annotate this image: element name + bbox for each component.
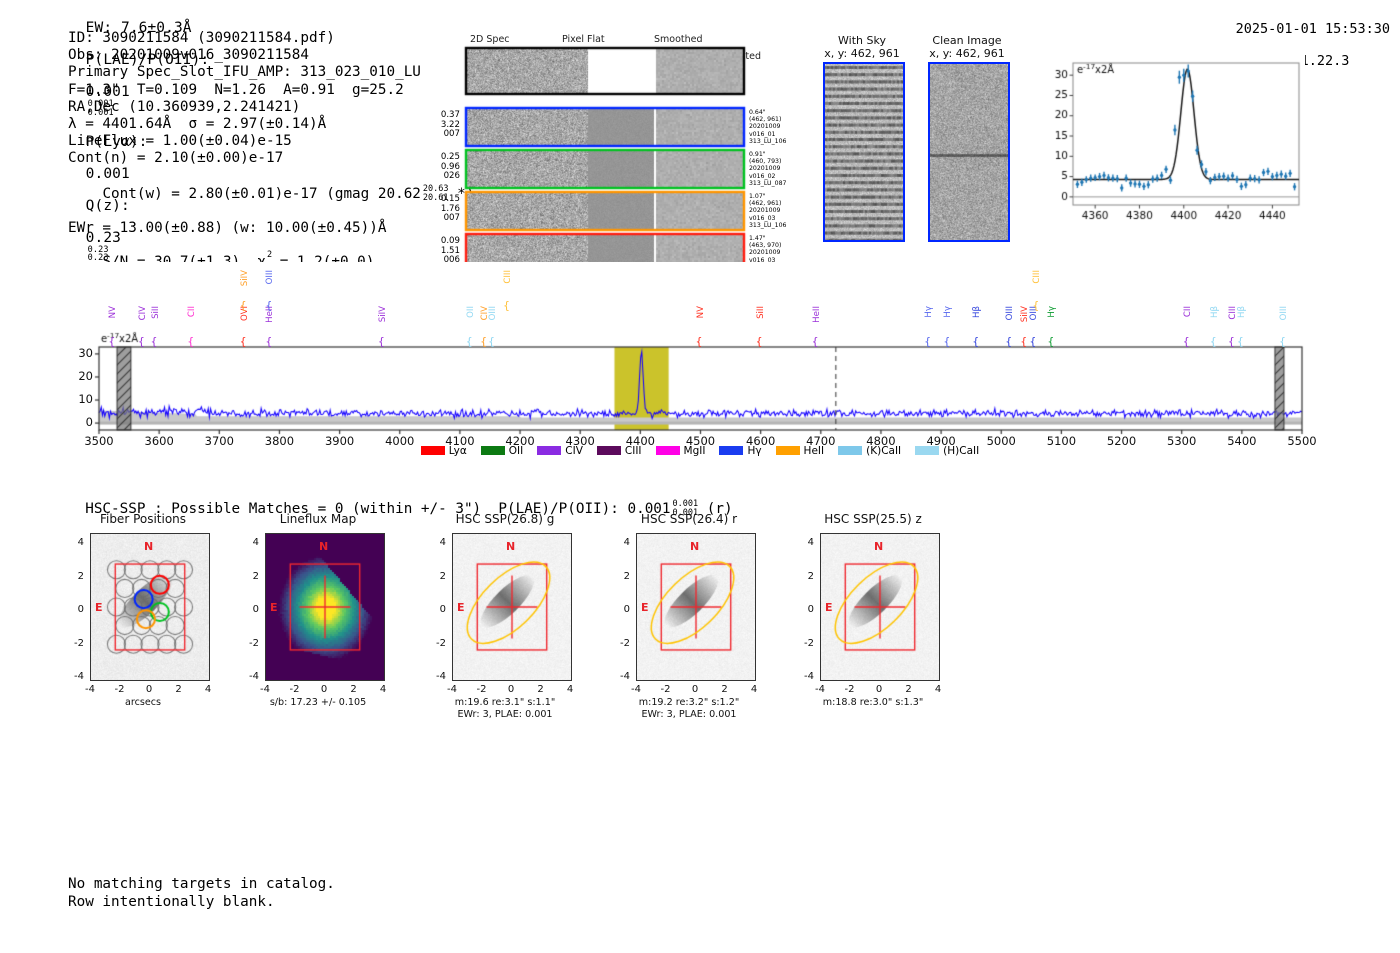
legend-swatch-1 <box>481 446 505 455</box>
legend-swatch-7 <box>838 446 862 455</box>
spec2d-row-2-meta-2: 20201009 <box>749 165 781 172</box>
cutout-panel-1-xtick-0: -4 <box>255 684 275 695</box>
spec2d-row-3-stat-1: 1.76 <box>441 204 460 214</box>
cutout-panel-4-xtick-4: 4 <box>928 684 948 695</box>
cutout-panel-1-ytick-0: 4 <box>243 537 259 548</box>
spec2d-row-2-stat-2: 026 <box>444 171 460 181</box>
cutout-panel-2-ytick-0: 4 <box>430 537 446 548</box>
cutout-panel-1-caption: s/b: 17.23 +/- 0.105 <box>243 697 393 709</box>
spec2d-row-1-meta-3: v016_01 <box>749 131 775 138</box>
legend-label-7: (K)CaII <box>866 445 901 457</box>
spec2d-row-3-meta-0: 1.07" <box>749 193 766 200</box>
spectrum-line-brace-0: { <box>108 336 115 347</box>
spec2d-row-2-meta-1: (460, 793) <box>749 158 781 165</box>
spectrum-line-brace-10: { <box>480 336 487 347</box>
legend-swatch-2 <box>537 446 561 455</box>
spec2d-row-4-meta-0: 1.47" <box>749 235 766 242</box>
spec2d-montage: 2D Spec Pixel Flat Smoothed WeightedSum … <box>432 34 762 264</box>
cutout-panel-0-xtick-0: -4 <box>80 684 100 695</box>
cutout-clean-title: Clean Imagex, y: 462, 961 <box>918 34 1016 60</box>
cutout-panel-0-compass-n: N <box>144 540 153 553</box>
cutout-panel-2-ytick-4: -4 <box>430 671 446 682</box>
spectrum-line-brace-24: { <box>1183 336 1190 347</box>
cutout-panel-2: HSC SSP(26.8) g420-2-4-4-2024m:19.6 re:3… <box>430 533 580 729</box>
spectrum-line-label-SiIV-8: SiIV <box>378 306 388 322</box>
cutout-panel-2-compass-e: E <box>457 601 465 614</box>
spec2d-row-1-stat-1: 3.22 <box>441 120 460 130</box>
cutout-panel-1-ytick-3: -2 <box>243 638 259 649</box>
cutout-panel-4-ytick-4: -4 <box>798 671 814 682</box>
cutout-panel-0-xlabel: arcsecs <box>68 697 218 709</box>
spec2d-row-2-stat-1: 0.96 <box>441 162 460 172</box>
spec2d-row-3-left-stats: 0.151.76007 <box>426 195 460 224</box>
footer-line-2: Row intentionally blank. <box>68 894 335 912</box>
cutout-panel-2-xtick-1: -2 <box>472 684 492 695</box>
spectrum-line-brace-18: { <box>972 336 979 347</box>
cutout-panel-3-xtick-3: 2 <box>715 684 735 695</box>
spectrum-line-label-H-27: Hβ <box>1237 306 1247 318</box>
legend-swatch-4 <box>656 446 680 455</box>
spec2d-row-1-meta-4: 313_LU_106 <box>749 138 786 145</box>
legend-item-H: Hγ <box>719 445 761 457</box>
spectrum-line-label-OIII-7: OIII <box>265 270 275 284</box>
spectrum-line-label-CII-24: CII <box>1183 306 1193 317</box>
spectrum-line-label-OIII-19: OIII <box>1005 306 1015 320</box>
cutout-panel-0: Fiber Positions420-2-4-4-2024arcsecsNE <box>68 533 218 729</box>
cutout-panel-3-caption: m:19.2 re:3.2" s:1.2" <box>614 697 764 709</box>
cutout-panel-2-xtick-0: -4 <box>442 684 462 695</box>
timestamp: 2025-01-01 15:53:30 <box>1236 21 1390 37</box>
info-ewr: EWr = 13.00(±0.88) (w: 10.00(±0.45))Å <box>68 220 474 237</box>
legend-label-0: Lyα <box>449 445 467 457</box>
spec2d-row-2-meta-3: v016_02 <box>749 173 775 180</box>
spec2d-row-3-meta-1: (462, 961) <box>749 200 781 207</box>
cutout-panel-1-xtick-4: 4 <box>373 684 393 695</box>
spectrum-line-label-CIV-1: CIV <box>138 306 148 320</box>
spectrum-line-label-NV-0: NV <box>108 306 118 318</box>
cutout-panel-3-xtick-1: -2 <box>656 684 676 695</box>
spectrum-line-label-H-16: Hγ <box>924 306 934 318</box>
spec2d-row-1-meta-1: (462, 961) <box>749 116 781 123</box>
cutout-panel-3-ytick-1: 2 <box>614 571 630 582</box>
cutout-panel-3-xtick-2: 0 <box>685 684 705 695</box>
spectrum-line-brace-15: { <box>812 336 819 347</box>
legend-label-1: OII <box>509 445 523 457</box>
spectrum-line-brace-20: { <box>1020 336 1027 347</box>
spectrum-line-brace-27: { <box>1237 336 1244 347</box>
spectrum-line-label-SiII-14: SiII <box>756 306 766 319</box>
legend-label-4: MgII <box>684 445 706 457</box>
legend-swatch-8 <box>915 446 939 455</box>
spectrum-line-brace-1: { <box>138 336 145 347</box>
spec2d-row-4-meta-2: 20201009 <box>749 249 781 256</box>
spec2d-row-3-meta-4: 313_LU_106 <box>749 222 786 229</box>
cutout-panel-3-xtick-0: -4 <box>626 684 646 695</box>
cutout-panel-2-caption2: EWr: 3, PLAE: 0.001 <box>430 709 580 721</box>
cutout-panel-2-ytick-3: -2 <box>430 638 446 649</box>
spectrum-line-label-OII-9: OII <box>466 306 476 318</box>
spectrum-line-label-SiIV-5: SiIV <box>240 270 250 286</box>
cutout-panel-0-xtick-3: 2 <box>169 684 189 695</box>
cutout-panel-4-caption: m:18.8 re:3.0" s:1.3" <box>798 697 948 709</box>
cutout-panel-4-title: HSC SSP(25.5) z <box>798 512 948 526</box>
spec2d-row-4-stat-0: 0.09 <box>441 236 460 246</box>
spec2d-row-1-stat-0: 0.37 <box>441 110 460 120</box>
info-id: ID: 3090211584 (3090211584.pdf) <box>68 30 474 47</box>
spectrum-line-label-H-25: Hβ <box>1210 306 1220 318</box>
cutout-panel-1-compass-e: E <box>270 601 278 614</box>
spectrum-ytick-0: 0 <box>67 415 93 429</box>
spectrum-line-brace-28: { <box>1279 336 1286 347</box>
legend-swatch-0 <box>421 446 445 455</box>
info-cont-n: Cont(n) = 2.10(±0.00)e-17 <box>68 150 474 167</box>
footer-line-1: No matching targets in catalog. <box>68 876 335 894</box>
spec2d-row-2-right-meta: 0.91"(460, 793)20201009v016_02313_LU_087 <box>749 151 795 187</box>
spectrum-line-brace-9: { <box>466 336 473 347</box>
info-wavelength: λ = 4401.64Å σ = 2.97(±0.14)Å <box>68 116 474 133</box>
spectrum-line-label-SiII-2: SiII <box>151 306 161 319</box>
cutout-panel-4-image[interactable] <box>820 533 940 681</box>
spectrum-legend: LyαOIICIVCIIIMgIIHγHeII(K)CaII(H)CaII <box>0 445 1400 457</box>
cutout-panel-0-ytick-3: -2 <box>68 638 84 649</box>
cutout-panel-2-xtick-3: 2 <box>531 684 551 695</box>
spec2d-row-4-stat-1: 1.51 <box>441 246 460 256</box>
cutout-panel-0-ytick-2: 0 <box>68 604 84 615</box>
cutout-panel-1-compass-n: N <box>319 540 328 553</box>
legend-item-CIII: CIII <box>597 445 642 457</box>
cutout-panel-1-title: Lineflux Map <box>243 512 393 526</box>
cutout-panel-1-ytick-4: -4 <box>243 671 259 682</box>
info-seeing: F=1.3" T=0.109 N=1.26 A=0.91 g=25.2 <box>68 82 474 99</box>
spec2d-row-3-meta-2: 20201009 <box>749 207 781 214</box>
cutout-panel-1-ytick-1: 2 <box>243 571 259 582</box>
cutout-panel-4-ytick-0: 4 <box>798 537 814 548</box>
spectrum-line-brace-14: { <box>756 336 763 347</box>
cutout-panel-4-ytick-1: 2 <box>798 571 814 582</box>
cutout-panel-2-caption: m:19.6 re:3.1" s:1.1" <box>430 697 580 709</box>
cutout-panel-4-xtick-1: -2 <box>840 684 860 695</box>
spectrum-line-brace-26: { <box>1228 336 1235 347</box>
spec2d-row-3-stat-0: 0.15 <box>441 194 460 204</box>
spec2d-row-2-left-stats: 0.250.96026 <box>426 153 460 182</box>
spectrum-line-brace-8: { <box>378 336 385 347</box>
legend-swatch-6 <box>776 446 800 455</box>
spec2d-row-2-meta-4: 313_LU_087 <box>749 180 786 187</box>
cutout-panel-3-image[interactable] <box>636 533 756 681</box>
cutout-panel-3-ytick-3: -2 <box>614 638 630 649</box>
spectrum-line-brace-23: { <box>1047 336 1054 347</box>
cutout-panel-3-ytick-2: 0 <box>614 604 630 615</box>
spec2d-row-1-left-stats: 0.373.22007 <box>426 111 460 140</box>
legend-label-2: CIV <box>565 445 583 457</box>
spectrum-line-label-H-18: Hβ <box>972 306 982 318</box>
info-specslot: Primary Spec_Slot_IFU_AMP: 313_023_010_L… <box>68 64 474 81</box>
cutout-panel-3-caption2: EWr: 3, PLAE: 0.001 <box>614 709 764 721</box>
cutout-panel-4-xtick-3: 2 <box>899 684 919 695</box>
legend-swatch-5 <box>719 446 743 455</box>
spectrum-ytick-10: 10 <box>67 392 93 406</box>
spectrum-line-label-OIII-28: OIII <box>1279 306 1289 320</box>
cutout-panel-2-xtick-2: 0 <box>501 684 521 695</box>
spec2d-row-2-stat-0: 0.25 <box>441 152 460 162</box>
spectrum-line-brace-17: { <box>943 336 950 347</box>
cutout-panel-4-ytick-3: -2 <box>798 638 814 649</box>
cutout-panel-4-compass-e: E <box>825 601 833 614</box>
spectrum-line-brace-3: { <box>187 336 194 347</box>
cutout-panel-1-xtick-3: 2 <box>344 684 364 695</box>
cutout-panel-2-image[interactable] <box>452 533 572 681</box>
legend-item-MgII: MgII <box>656 445 706 457</box>
spec2d-row-1-right-meta: 0.64"(462, 961)20201009v016_01313_LU_106 <box>749 109 795 145</box>
legend-label-3: CIII <box>625 445 642 457</box>
cutout-panel-0-ytick-4: -4 <box>68 671 84 682</box>
spectrum-line-brace-12: { <box>503 300 510 311</box>
spec2d-row-3-stat-2: 007 <box>444 213 460 223</box>
spec2d-row-4-meta-1: (463, 970) <box>749 242 781 249</box>
spectrum-line-brace-7: { <box>265 300 272 311</box>
spec2d-row-1-meta-0: 0.64" <box>749 109 766 116</box>
spectrum-line-brace-22: { <box>1032 300 1039 311</box>
spectrum-line-brace-2: { <box>151 336 158 347</box>
footer-notes: No matching targets in catalog. Row inte… <box>68 876 335 911</box>
cutout-panel-1-image[interactable] <box>265 533 385 681</box>
cutout-panel-0-ytick-1: 2 <box>68 571 84 582</box>
cutout-panel-0-compass-e: E <box>95 601 103 614</box>
spectrum-line-label-H-23: Hγ <box>1047 306 1057 318</box>
cutout-panel-1-xtick-1: -2 <box>285 684 305 695</box>
legend-item-Ly: Lyα <box>421 445 467 457</box>
spectrum-line-brace-19: { <box>1005 336 1012 347</box>
cutout-panel-3: HSC SSP(26.4) r420-2-4-4-2024m:19.2 re:3… <box>614 533 764 729</box>
cutout-panel-4: HSC SSP(25.5) z420-2-4-4-2024m:18.8 re:3… <box>798 533 948 729</box>
spectrum-line-label-CIII-12: CIII <box>503 270 513 284</box>
spectrum-line-brace-16: { <box>924 336 931 347</box>
info-radec: RA,Dec (10.360939,2.241421) <box>68 99 474 116</box>
cutout-panel-0-xtick-4: 4 <box>198 684 218 695</box>
cutout-panel-1-xtick-2: 0 <box>314 684 334 695</box>
cutout-panel-3-compass-n: N <box>690 540 699 553</box>
spec2d-row-1-meta-2: 20201009 <box>749 123 781 130</box>
cutout-panel-2-xtick-4: 4 <box>560 684 580 695</box>
spectrum-line-label-H-17: Hγ <box>943 306 953 318</box>
legend-item-CIV: CIV <box>537 445 583 457</box>
cutout-panel-1: Lineflux Map420-2-4-4-2024s/b: 17.23 +/-… <box>243 533 393 729</box>
spectrum-line-label-NV-13: NV <box>696 306 706 318</box>
info-cont-w: Cont(w) = 2.80(±0.01)e-17 (gmag 20.6220.… <box>68 168 474 220</box>
cutout-panel-4-compass-n: N <box>874 540 883 553</box>
spectrum-line-brace-6: { <box>265 336 272 347</box>
cutout-panel-2-ytick-2: 0 <box>430 604 446 615</box>
cutout-panel-0-image[interactable] <box>90 533 210 681</box>
cutout-panel-2-title: HSC SSP(26.8) g <box>430 512 580 526</box>
cutout-panel-3-compass-e: E <box>641 601 649 614</box>
spectrum-ytick-20: 20 <box>67 369 93 383</box>
cutout-panel-2-compass-n: N <box>506 540 515 553</box>
spectrum-line-label-OIII-11: OIII <box>488 306 498 320</box>
spectrum-line-label-HeII-15: HeII <box>812 306 822 323</box>
cutout-panel-0-xtick-1: -2 <box>110 684 130 695</box>
cutout-panel-4-ytick-2: 0 <box>798 604 814 615</box>
spec2d-row-1-stat-2: 007 <box>444 129 460 139</box>
cutout-panel-4-xtick-2: 0 <box>869 684 889 695</box>
spectrum-line-brace-25: { <box>1210 336 1217 347</box>
spectrum-line-label-CII-3: CII <box>187 306 197 317</box>
legend-label-5: Hγ <box>747 445 761 457</box>
legend-swatch-3 <box>597 446 621 455</box>
cutout-panel-0-ytick-0: 4 <box>68 537 84 548</box>
cutout-with-sky-title: With Skyx, y: 462, 961 <box>818 34 906 60</box>
cutout-panel-3-title: HSC SSP(26.4) r <box>614 512 764 526</box>
cutout-panel-2-ytick-1: 2 <box>430 571 446 582</box>
spec2d-row-2-meta-0: 0.91" <box>749 151 766 158</box>
info-lineflux: LineFlux = 1.00(±0.04)e-15 <box>68 133 474 150</box>
cutout-panel-0-title: Fiber Positions <box>68 512 218 526</box>
cutout-panel-3-ytick-4: -4 <box>614 671 630 682</box>
legend-item-OII: OII <box>481 445 523 457</box>
spec2d-row-3-meta-3: v016_03 <box>749 215 775 222</box>
spectrum-line-label-CIII-22: CIII <box>1032 270 1042 284</box>
spectrum-line-brace-5: { <box>240 300 247 311</box>
spectrum-line-brace-21: { <box>1029 336 1036 347</box>
cutout-panel-1-ytick-2: 0 <box>243 604 259 615</box>
spectrum-line-brace-4: { <box>240 336 247 347</box>
legend-label-6: HeII <box>804 445 825 457</box>
legend-item-HCaII: (H)CaII <box>915 445 979 457</box>
cutout-panel-3-xtick-4: 4 <box>744 684 764 695</box>
info-obs: Obs: 20201009v016_3090211584 <box>68 47 474 64</box>
cutout-panel-4-xtick-0: -4 <box>810 684 830 695</box>
spectrum-ytick-30: 30 <box>67 346 93 360</box>
legend-label-8: (H)CaII <box>943 445 979 457</box>
legend-item-KCaII: (K)CaII <box>838 445 901 457</box>
cutout-panel-0-xtick-2: 0 <box>139 684 159 695</box>
emission-line-zoom-plot <box>1035 55 1305 215</box>
spectrum-line-brace-13: { <box>696 336 703 347</box>
spec2d-row-3-right-meta: 1.07"(462, 961)20201009v016_03313_LU_106 <box>749 193 795 229</box>
legend-item-HeII: HeII <box>776 445 825 457</box>
spectrum-line-brace-11: { <box>488 336 495 347</box>
cutout-panel-3-ytick-0: 4 <box>614 537 630 548</box>
